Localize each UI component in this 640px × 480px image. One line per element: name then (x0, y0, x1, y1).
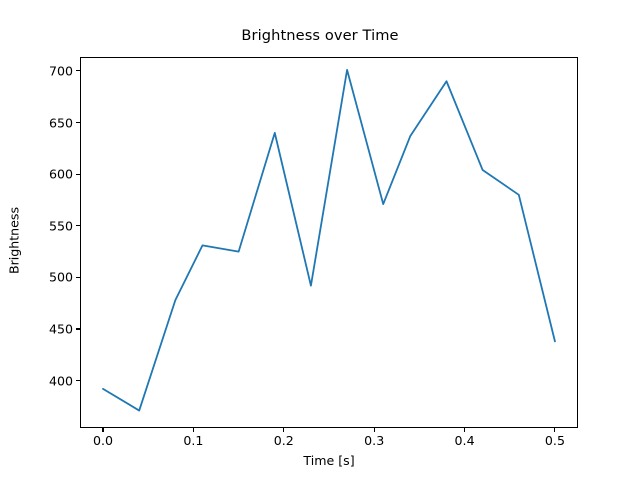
y-tick-label: 700 (49, 63, 73, 78)
y-tick-label: 500 (49, 270, 73, 285)
figure-canvas: Brightness over Time Brightness 40045050… (0, 0, 640, 480)
x-tick-label: 0.1 (183, 433, 203, 448)
y-tick-label: 450 (49, 322, 73, 337)
y-tick-label: 600 (49, 167, 73, 182)
x-tick-label: 0.2 (274, 433, 294, 448)
x-tick-mark (102, 428, 103, 432)
x-tick-label: 0.4 (455, 433, 475, 448)
x-tick-mark (193, 428, 194, 432)
x-tick-mark (464, 428, 465, 432)
brightness-line-series (103, 70, 555, 411)
x-tick-mark (283, 428, 284, 432)
x-tick-mark (554, 428, 555, 432)
y-tick-label: 550 (49, 218, 73, 233)
y-tick-label: 400 (49, 373, 73, 388)
x-axis-label: Time [s] (80, 453, 578, 468)
chart-title: Brightness over Time (0, 27, 640, 44)
x-tick-label: 0.0 (93, 433, 113, 448)
y-tick-label: 650 (49, 115, 73, 130)
x-tick-label: 0.5 (545, 433, 565, 448)
plot-area (80, 57, 578, 428)
x-tick-label: 0.3 (364, 433, 384, 448)
y-axis-tick-labels: 400450500550600650700 (0, 0, 73, 480)
x-tick-mark (374, 428, 375, 432)
